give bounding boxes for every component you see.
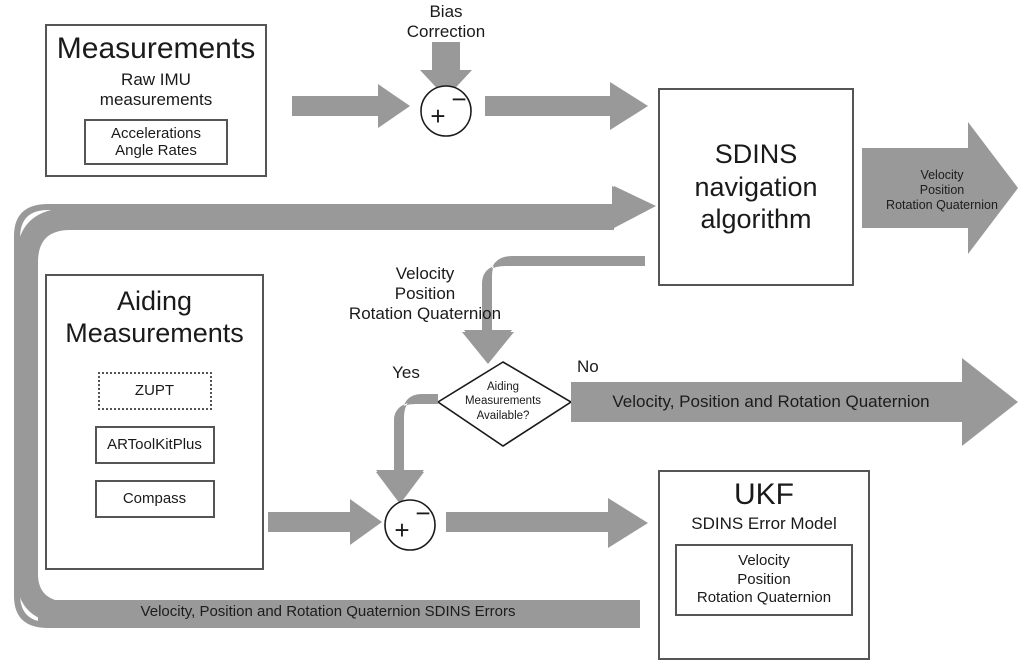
aiding-to-sum-arrow	[268, 499, 382, 545]
ukf-subtitle: SDINS Error Model	[691, 514, 836, 534]
yes-branch-arrow	[376, 394, 438, 504]
sum-top-minus: −	[448, 86, 470, 112]
diagram-canvas: Measurements Raw IMU measurements Accele…	[0, 0, 1024, 671]
state-label: Velocity Position Rotation Quaternion	[340, 264, 510, 324]
no-branch-arrow-label: Velocity, Position and Rotation Quaterni…	[586, 392, 956, 412]
sum-to-ukf-arrow	[446, 498, 648, 548]
decision-no-label: No	[577, 357, 617, 377]
aiding-item-compass[interactable]: Compass	[95, 480, 215, 518]
decision-label: Aiding Measurements Available?	[455, 380, 551, 423]
measurements-to-sum-arrow	[292, 84, 410, 128]
feedback-bottom-label: Velocity, Position and Rotation Quaterni…	[48, 603, 608, 621]
sum-bottom-plus: +	[391, 517, 413, 543]
output-arrow-label: Velocity Position Rotation Quaternion	[877, 168, 1007, 212]
aiding-item-artoolkitplus[interactable]: ARToolKitPlus	[95, 426, 215, 464]
bias-correction-label: Bias Correction	[386, 2, 506, 42]
sum-to-sdins-arrow	[485, 82, 648, 130]
aiding-measurements-box: Aiding Measurements ZUPT ARToolKitPlus C…	[45, 274, 264, 570]
sdins-title: SDINS navigation algorithm	[694, 138, 817, 237]
measurements-box: Measurements Raw IMU measurements Accele…	[45, 24, 267, 177]
aiding-title: Aiding Measurements	[65, 286, 244, 350]
ukf-title: UKF	[734, 478, 794, 512]
ukf-box: UKF SDINS Error Model Velocity Position …	[658, 470, 870, 660]
measurements-subtitle: Raw IMU measurements	[100, 70, 212, 111]
ukf-inner-box: Velocity Position Rotation Quaternion	[675, 544, 853, 616]
sum-top-plus: +	[427, 103, 449, 129]
aiding-item-zupt[interactable]: ZUPT	[98, 372, 212, 410]
measurements-inner-box: Accelerations Angle Rates	[84, 119, 228, 165]
decision-yes-label: Yes	[383, 363, 429, 383]
sum-bottom-minus: −	[412, 500, 434, 526]
measurements-title: Measurements	[57, 32, 255, 66]
sdins-box: SDINS navigation algorithm	[658, 88, 854, 286]
